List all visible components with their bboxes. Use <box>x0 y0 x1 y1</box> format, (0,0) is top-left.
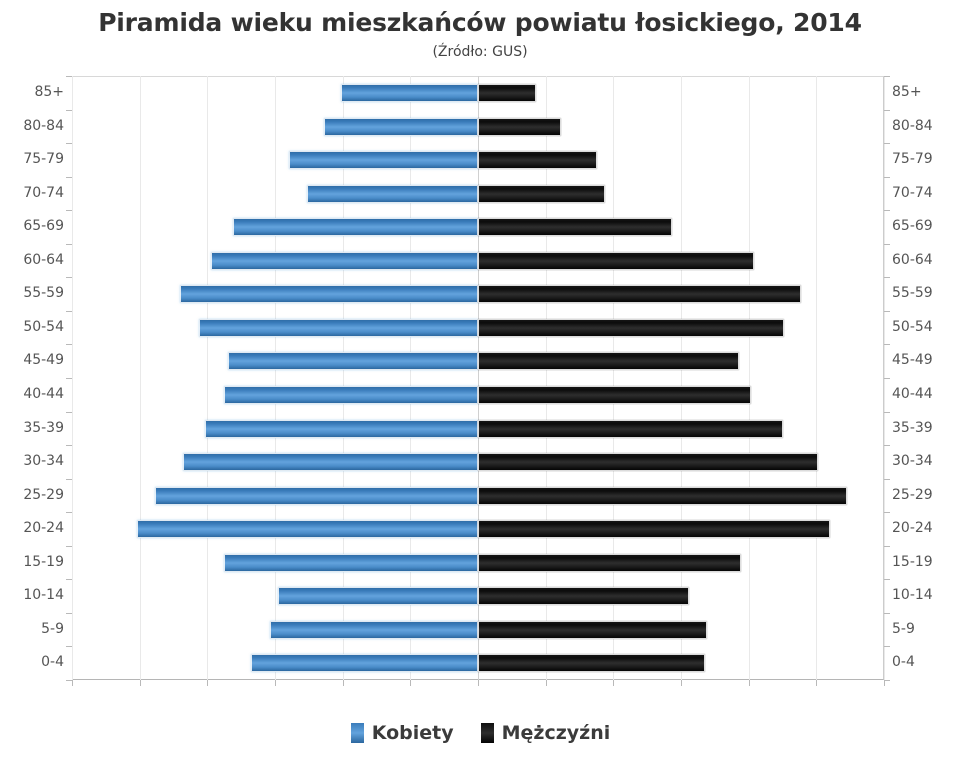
pyramid-row <box>72 546 884 580</box>
bar-male[interactable] <box>478 453 818 471</box>
bar-male[interactable] <box>478 487 847 505</box>
bar-rows <box>72 76 884 680</box>
pyramid-row <box>72 613 884 647</box>
legend-label-mezczyzni: Mężczyźni <box>502 722 611 744</box>
y-axis-tick <box>884 110 890 111</box>
legend-label-kobiety: Kobiety <box>372 722 454 744</box>
bar-female[interactable] <box>307 185 478 203</box>
y-axis-tick <box>66 378 72 379</box>
x-axis-tick <box>343 680 344 686</box>
bar-male[interactable] <box>478 319 784 337</box>
y-axis-tick <box>884 579 890 580</box>
bar-male[interactable] <box>478 621 707 639</box>
y-axis-tick <box>66 613 72 614</box>
bar-female[interactable] <box>205 420 478 438</box>
y-axis-label-right: 40-44 <box>892 378 960 412</box>
y-axis-label-left: 35-39 <box>0 412 64 446</box>
bar-male[interactable] <box>478 151 597 169</box>
bar-male[interactable] <box>478 218 672 236</box>
bar-male[interactable] <box>478 118 561 136</box>
bar-female[interactable] <box>199 319 478 337</box>
y-axis-label-left: 50-54 <box>0 311 64 345</box>
bar-male[interactable] <box>478 654 705 672</box>
y-axis-tick <box>884 244 890 245</box>
bar-male[interactable] <box>478 587 689 605</box>
x-axis-tick <box>478 680 479 686</box>
y-axis-label-right: 70-74 <box>892 177 960 211</box>
y-axis-tick <box>884 76 890 77</box>
y-axis-tick <box>66 412 72 413</box>
bar-male[interactable] <box>478 554 741 572</box>
y-axis-tick <box>66 445 72 446</box>
y-axis-label-left: 0-4 <box>0 646 64 680</box>
y-axis-tick <box>884 445 890 446</box>
bar-female[interactable] <box>180 285 478 303</box>
y-axis-label-right: 75-79 <box>892 143 960 177</box>
x-axis-tick <box>207 680 208 686</box>
y-axis-tick <box>66 479 72 480</box>
y-axis-tick <box>884 344 890 345</box>
bar-female[interactable] <box>278 587 478 605</box>
legend-swatch-male-icon <box>480 722 495 744</box>
y-axis-tick <box>66 143 72 144</box>
pyramid-row <box>72 512 884 546</box>
y-axis-tick <box>884 210 890 211</box>
pyramid-row <box>72 311 884 345</box>
plot-area: 85+80-8475-7970-7465-6960-6455-5950-5445… <box>72 76 884 680</box>
pyramid-row <box>72 646 884 680</box>
y-axis-label-left: 5-9 <box>0 613 64 647</box>
y-axis-label-left: 30-34 <box>0 445 64 479</box>
pyramid-row <box>72 412 884 446</box>
y-axis-tick <box>884 378 890 379</box>
chart-subtitle: (Źródło: GUS) <box>0 44 960 60</box>
y-axis-tick <box>884 546 890 547</box>
bar-male[interactable] <box>478 386 751 404</box>
y-axis-tick <box>66 210 72 211</box>
y-axis-label-right: 85+ <box>892 76 960 110</box>
y-axis-label-right: 35-39 <box>892 412 960 446</box>
x-axis-tick <box>884 680 885 686</box>
y-axis-label-right: 65-69 <box>892 210 960 244</box>
y-axis-label-left: 40-44 <box>0 378 64 412</box>
y-axis-tick <box>66 546 72 547</box>
y-axis-tick <box>66 311 72 312</box>
bar-female[interactable] <box>233 218 478 236</box>
y-axis-label-left: 70-74 <box>0 177 64 211</box>
bar-male[interactable] <box>478 352 739 370</box>
pyramid-row <box>72 76 884 110</box>
y-axis-label-right: 50-54 <box>892 311 960 345</box>
bar-female[interactable] <box>270 621 478 639</box>
x-axis-tick <box>613 680 614 686</box>
y-axis-label-left: 20-24 <box>0 512 64 546</box>
y-axis-tick <box>66 579 72 580</box>
pyramid-row <box>72 378 884 412</box>
bar-female[interactable] <box>251 654 478 672</box>
y-axis-tick <box>66 277 72 278</box>
bar-female[interactable] <box>183 453 478 471</box>
y-axis-tick <box>884 177 890 178</box>
y-axis-tick <box>66 244 72 245</box>
x-axis-tick <box>546 680 547 686</box>
bar-female[interactable] <box>155 487 478 505</box>
pyramid-row <box>72 244 884 278</box>
bar-female[interactable] <box>341 84 478 102</box>
x-axis-tick <box>681 680 682 686</box>
pyramid-row <box>72 177 884 211</box>
population-pyramid-chart: Piramida wieku mieszkańców powiatu łosic… <box>0 0 960 768</box>
y-axis-label-right: 25-29 <box>892 479 960 513</box>
y-axis-label-right: 30-34 <box>892 445 960 479</box>
y-axis-tick <box>884 512 890 513</box>
bar-male[interactable] <box>478 420 783 438</box>
chart-title: Piramida wieku mieszkańców powiatu łosic… <box>0 8 960 37</box>
y-axis-tick <box>66 344 72 345</box>
y-axis-label-left: 80-84 <box>0 110 64 144</box>
legend-item-kobiety[interactable]: Kobiety <box>350 722 454 744</box>
pyramid-row <box>72 445 884 479</box>
bar-female[interactable] <box>211 252 478 270</box>
y-axis-label-left: 60-64 <box>0 244 64 278</box>
x-axis-tick <box>410 680 411 686</box>
pyramid-row <box>72 110 884 144</box>
x-axis-tick <box>275 680 276 686</box>
y-axis-tick <box>884 311 890 312</box>
pyramid-row <box>72 479 884 513</box>
y-axis-label-left: 55-59 <box>0 277 64 311</box>
y-axis-tick <box>884 646 890 647</box>
pyramid-row <box>72 143 884 177</box>
y-axis-tick <box>66 76 72 77</box>
y-axis-label-left: 85+ <box>0 76 64 110</box>
bar-female[interactable] <box>224 386 478 404</box>
pyramid-row <box>72 277 884 311</box>
y-axis-tick <box>884 143 890 144</box>
pyramid-row <box>72 210 884 244</box>
pyramid-row <box>72 579 884 613</box>
y-axis-label-right: 15-19 <box>892 546 960 580</box>
y-axis-label-left: 65-69 <box>0 210 64 244</box>
bar-male[interactable] <box>478 84 536 102</box>
y-axis-label-right: 5-9 <box>892 613 960 647</box>
legend-item-mezczyzni[interactable]: Mężczyźni <box>480 722 611 744</box>
bar-male[interactable] <box>478 285 801 303</box>
y-axis-tick <box>66 177 72 178</box>
x-axis-tick <box>816 680 817 686</box>
y-axis-label-left: 75-79 <box>0 143 64 177</box>
legend-swatch-female-icon <box>350 722 365 744</box>
y-axis-tick <box>884 613 890 614</box>
bar-female[interactable] <box>224 554 478 572</box>
y-axis-label-left: 15-19 <box>0 546 64 580</box>
bar-female[interactable] <box>289 151 478 169</box>
x-axis-tick <box>749 680 750 686</box>
y-axis-tick <box>884 479 890 480</box>
pyramid-row <box>72 344 884 378</box>
bar-female[interactable] <box>228 352 478 370</box>
x-axis-tick <box>72 680 73 686</box>
y-axis-label-right: 55-59 <box>892 277 960 311</box>
y-axis-tick <box>884 277 890 278</box>
bar-female[interactable] <box>137 520 478 538</box>
y-axis-label-left: 25-29 <box>0 479 64 513</box>
x-axis-tick <box>140 680 141 686</box>
y-axis-label-right: 45-49 <box>892 344 960 378</box>
y-axis-label-right: 80-84 <box>892 110 960 144</box>
y-axis-label-right: 0-4 <box>892 646 960 680</box>
bar-male[interactable] <box>478 252 754 270</box>
bar-male[interactable] <box>478 185 605 203</box>
y-axis-label-right: 60-64 <box>892 244 960 278</box>
y-axis-label-right: 20-24 <box>892 512 960 546</box>
y-axis-label-right: 10-14 <box>892 579 960 613</box>
y-axis-label-left: 10-14 <box>0 579 64 613</box>
y-axis-tick <box>884 412 890 413</box>
bar-male[interactable] <box>478 520 830 538</box>
y-axis-tick <box>66 110 72 111</box>
y-axis-tick <box>66 646 72 647</box>
bar-female[interactable] <box>324 118 478 136</box>
chart-legend: Kobiety Mężczyźni <box>0 722 960 744</box>
y-axis-label-left: 45-49 <box>0 344 64 378</box>
y-axis-tick <box>66 512 72 513</box>
